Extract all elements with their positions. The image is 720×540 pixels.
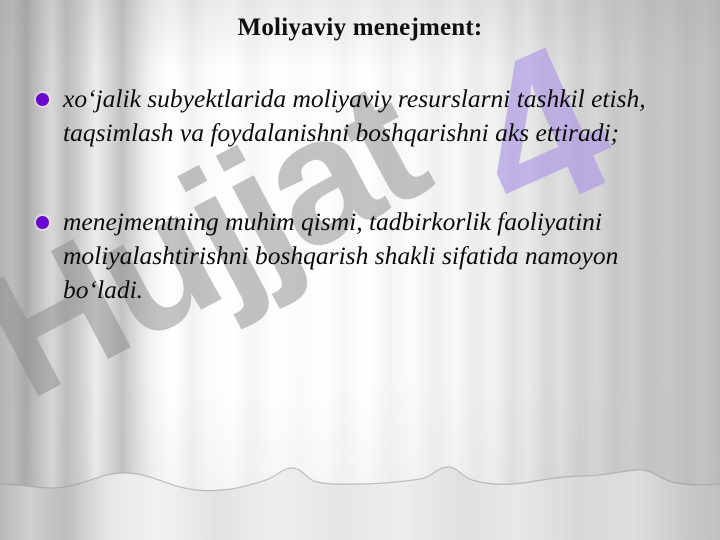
bullet-dot-icon	[36, 216, 49, 229]
slide-title: Moliyaviy menejment:	[0, 14, 720, 42]
list-item: menejmentning muhim qismi, tadbirkorlik …	[36, 205, 670, 306]
slide-canvas: Hujjat 4 Moliyaviy	[0, 0, 720, 540]
bullet-text: menejmentning muhim qismi, tadbirkorlik …	[63, 205, 648, 306]
bullet-dot-icon	[36, 93, 49, 106]
bullet-text: xo‘jalik subyektlarida moliyaviy resursl…	[63, 82, 648, 149]
bullet-list: xo‘jalik subyektlarida moliyaviy resursl…	[36, 82, 670, 306]
list-item: xo‘jalik subyektlarida moliyaviy resursl…	[36, 82, 670, 149]
